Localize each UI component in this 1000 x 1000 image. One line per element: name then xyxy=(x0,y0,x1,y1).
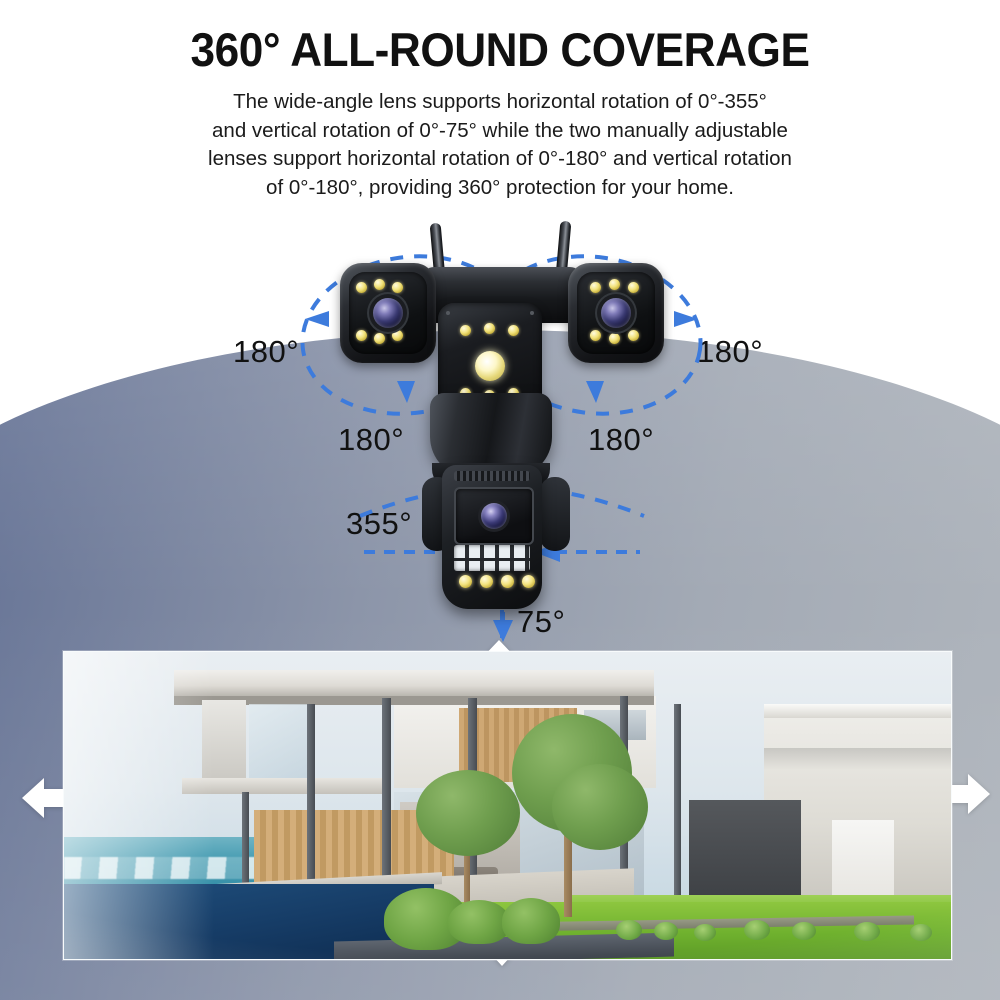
description-line-3: lenses support horizontal rotation of 0°… xyxy=(110,145,890,174)
angle-label-left-lens-horizontal: 180° xyxy=(233,336,299,367)
scene-bush xyxy=(910,924,932,941)
house-roof-slab xyxy=(174,670,654,696)
house-column xyxy=(307,704,315,884)
scene-left-haze xyxy=(64,652,214,959)
page-title: 360° ALL-ROUND COVERAGE xyxy=(30,22,970,77)
led-icon xyxy=(392,330,403,341)
angle-label-right-lens-horizontal: 180° xyxy=(697,336,763,367)
description-line-2: and vertical rotation of 0°-75° while th… xyxy=(110,117,890,146)
scene-bush xyxy=(854,922,880,941)
led-icon xyxy=(590,282,601,293)
scene-bush xyxy=(694,924,716,941)
ir-led-array xyxy=(454,545,530,571)
scene-bush xyxy=(744,920,770,940)
led-icon xyxy=(609,333,620,344)
led-icon xyxy=(628,282,639,293)
left-lens-pod xyxy=(340,263,436,363)
coverage-scene-panel xyxy=(63,651,952,960)
left-camera-lens xyxy=(373,298,403,328)
led-icon xyxy=(609,279,620,290)
left-pod-face xyxy=(349,272,427,354)
house-roof-edge xyxy=(174,696,654,705)
led-icon xyxy=(460,325,471,336)
led-icon xyxy=(501,575,514,588)
house-column xyxy=(382,698,391,888)
scene-shrub xyxy=(448,900,510,944)
led-icon xyxy=(374,333,385,344)
led-icon xyxy=(480,575,493,588)
description-line-4: of 0°-180°, providing 360° protection fo… xyxy=(110,174,890,203)
led-icon xyxy=(590,330,601,341)
tree-foliage xyxy=(552,764,648,850)
ptz-shoulder-right xyxy=(540,477,570,551)
house-column xyxy=(674,704,681,910)
led-icon xyxy=(374,279,385,290)
led-icon xyxy=(522,575,535,588)
led-icon xyxy=(628,330,639,341)
ptz-vent-grill xyxy=(454,471,530,481)
led-icon xyxy=(459,575,472,588)
led-icon xyxy=(484,323,495,334)
house-porch-glass xyxy=(249,704,309,778)
ptz-lens-housing xyxy=(454,487,534,545)
scene-bush xyxy=(792,922,816,940)
ptz-security-camera xyxy=(330,215,675,635)
led-icon xyxy=(356,282,367,293)
house-right-shadow xyxy=(764,748,952,770)
floodlight-led-icon xyxy=(475,351,505,381)
scene-bush xyxy=(654,922,678,940)
scene-shrub xyxy=(502,898,560,944)
description-line-1: The wide-angle lens supports horizontal … xyxy=(110,88,890,117)
led-icon xyxy=(392,282,403,293)
screw-icon xyxy=(446,311,450,315)
ptz-camera-lens xyxy=(481,503,507,529)
house-right-eave xyxy=(764,704,952,718)
right-lens-pod xyxy=(568,263,664,363)
promo-slide: 360° ALL-ROUND COVERAGE The wide-angle l… xyxy=(0,0,1000,1000)
right-pod-face xyxy=(577,272,655,354)
scene-bush xyxy=(616,920,642,940)
right-camera-lens xyxy=(601,298,631,328)
led-icon xyxy=(508,325,519,336)
screw-icon xyxy=(530,311,534,315)
house-column xyxy=(242,792,249,884)
led-icon xyxy=(356,330,367,341)
description-text: The wide-angle lens supports horizontal … xyxy=(110,88,890,202)
tree-foliage xyxy=(416,770,520,856)
